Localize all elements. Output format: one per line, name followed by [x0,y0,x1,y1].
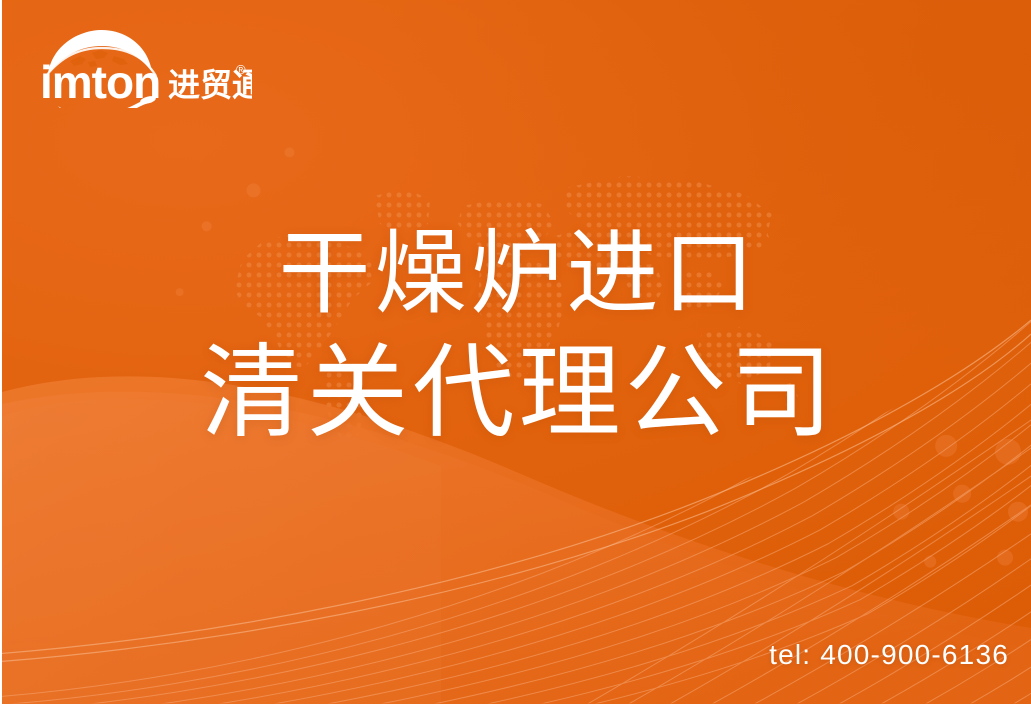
contact-phone[interactable]: tel: 400-900-6136 [769,639,1009,671]
page-title: 干燥炉进口 清关代理公司 [2,228,1031,444]
brand-logo[interactable]: imton 进贸通 ® [40,26,252,108]
headline-line-2: 清关代理公司 [2,342,1031,444]
logo-trademark: ® [236,62,246,77]
headline-line-1: 干燥炉进口 [2,228,1031,320]
promo-banner: imton 进贸通 ® 干燥炉进口 清关代理公司 tel: 400-900-61… [0,0,1031,704]
